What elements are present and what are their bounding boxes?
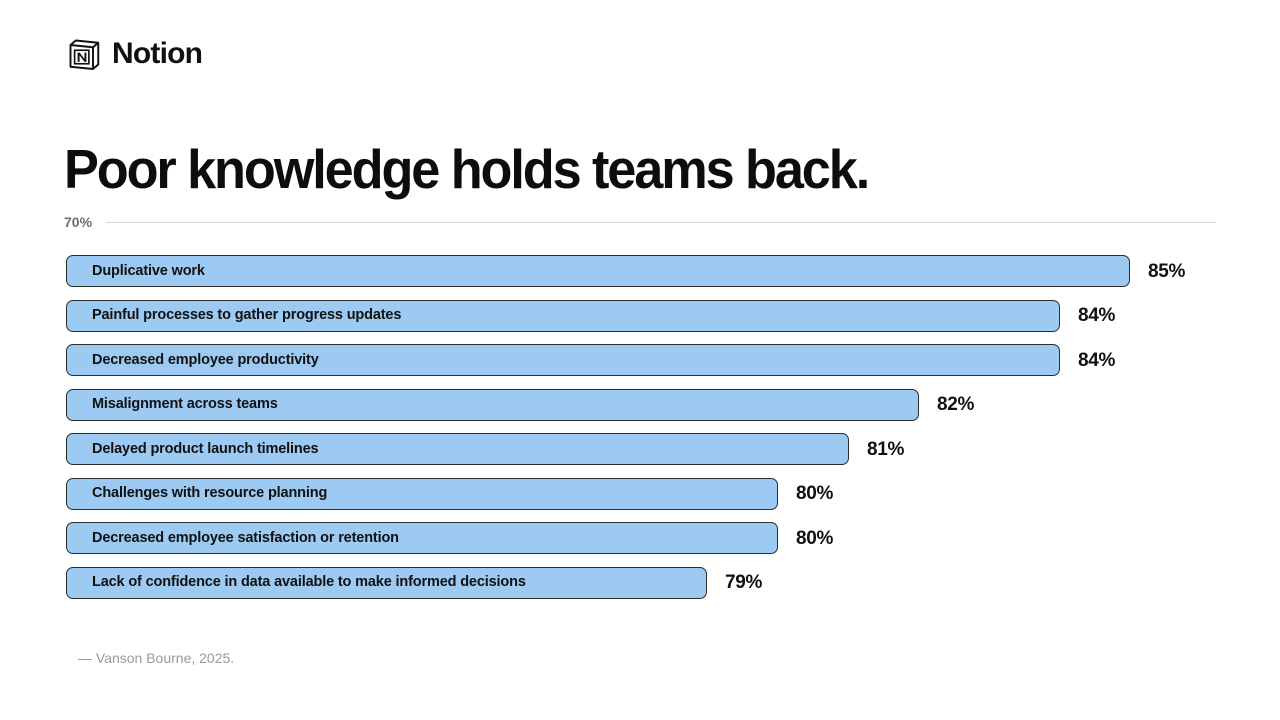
bar-value: 84% — [1078, 300, 1115, 332]
axis-gridline — [106, 222, 1216, 223]
bar-value: 80% — [796, 478, 833, 510]
bar-resource-planning[interactable]: Challenges with resource planning — [66, 478, 778, 510]
bar-label: Painful processes to gather progress upd… — [67, 308, 401, 323]
chart-axis: 70% — [64, 212, 1216, 232]
bar-row: Delayed product launch timelines 81% — [66, 433, 1226, 478]
bar-label: Delayed product launch timelines — [67, 442, 318, 457]
bar-label: Misalignment across teams — [67, 397, 278, 412]
bar-delayed-product-launch[interactable]: Delayed product launch timelines — [66, 433, 849, 465]
brand-name: Notion — [112, 39, 202, 69]
notion-cube-icon — [66, 36, 102, 72]
bar-value: 81% — [867, 433, 904, 465]
page-title: Poor knowledge holds teams back. — [64, 139, 868, 201]
bar-row: Lack of confidence in data available to … — [66, 567, 1226, 612]
bar-duplicative-work[interactable]: Duplicative work — [66, 255, 1130, 287]
bar-label: Decreased employee satisfaction or reten… — [67, 531, 399, 546]
bar-row: Decreased employee productivity 84% — [66, 344, 1226, 389]
bar-decreased-productivity[interactable]: Decreased employee productivity — [66, 344, 1060, 376]
bar-value: 84% — [1078, 344, 1115, 376]
bar-value: 82% — [937, 389, 974, 421]
horizontal-bar-chart: Duplicative work 85% Painful processes t… — [66, 255, 1226, 611]
bar-row: Duplicative work 85% — [66, 255, 1226, 300]
bar-label: Lack of confidence in data available to … — [67, 575, 526, 590]
bar-value: 85% — [1148, 255, 1185, 287]
bar-value: 79% — [725, 567, 762, 599]
axis-tick-label-70: 70% — [64, 215, 92, 229]
bar-row: Misalignment across teams 82% — [66, 389, 1226, 434]
bar-label: Decreased employee productivity — [67, 353, 319, 368]
bar-painful-processes[interactable]: Painful processes to gather progress upd… — [66, 300, 1060, 332]
bar-value: 80% — [796, 522, 833, 554]
bar-row: Painful processes to gather progress upd… — [66, 300, 1226, 345]
bar-row: Decreased employee satisfaction or reten… — [66, 522, 1226, 567]
bar-row: Challenges with resource planning 80% — [66, 478, 1226, 523]
bar-misalignment-across-teams[interactable]: Misalignment across teams — [66, 389, 919, 421]
brand-logo: Notion — [66, 36, 202, 72]
bar-employee-satisfaction[interactable]: Decreased employee satisfaction or reten… — [66, 522, 778, 554]
source-citation: — Vanson Bourne, 2025. — [78, 651, 234, 665]
bar-label: Duplicative work — [67, 264, 205, 279]
bar-label: Challenges with resource planning — [67, 486, 327, 501]
bar-lack-of-confidence-in-data[interactable]: Lack of confidence in data available to … — [66, 567, 707, 599]
